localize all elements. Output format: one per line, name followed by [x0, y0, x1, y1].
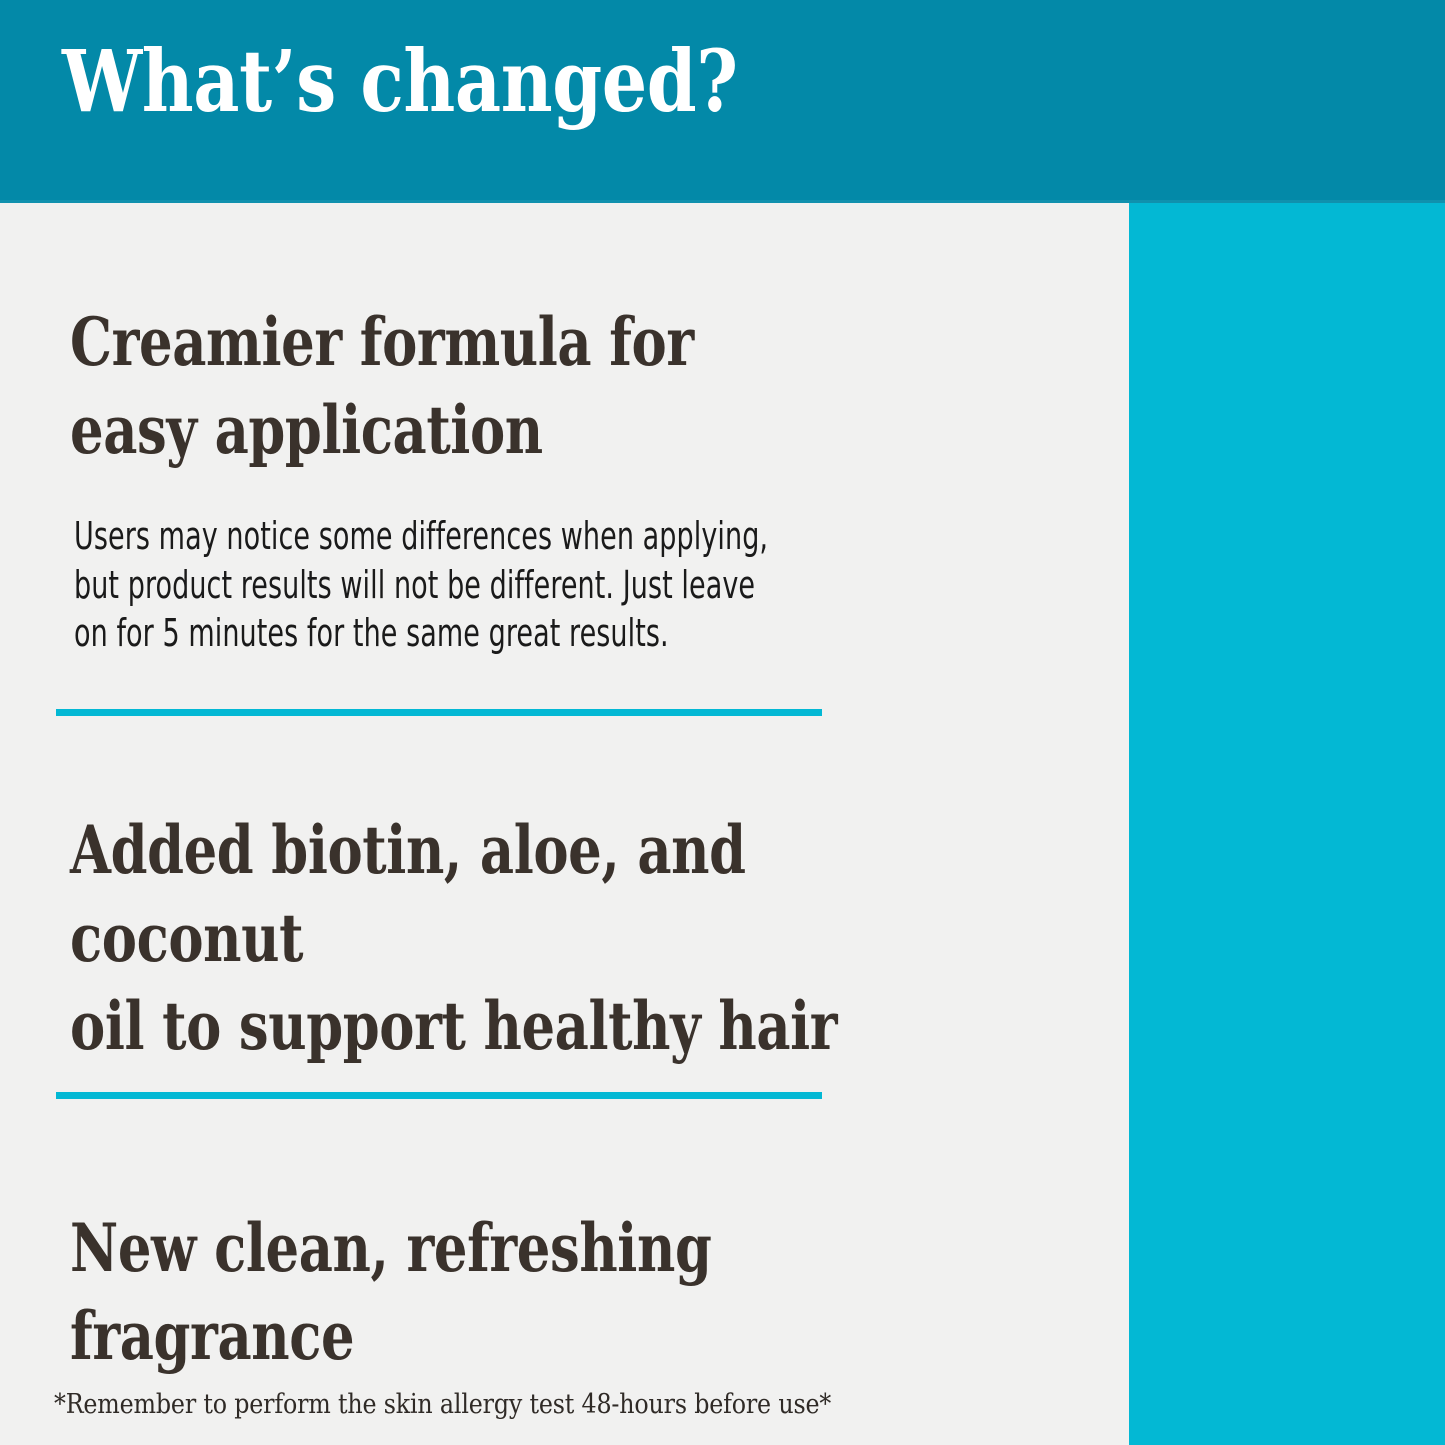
poster-canvas: What’s changed? Creamier formula for eas… — [0, 0, 1445, 1445]
section-body-creamier-formula: Users may notice some differences when a… — [74, 512, 1006, 658]
page-title: What’s changed? — [62, 38, 738, 127]
section-heading-creamier-formula: Creamier formula for easy application — [70, 299, 694, 475]
section-heading-added-biotin: Added biotin, aloe, and coconut oil to s… — [70, 807, 917, 1070]
header-band: What’s changed? — [0, 0, 1445, 203]
divider-after-section-2 — [56, 1092, 822, 1099]
content-column: Creamier formula for easy application Us… — [0, 203, 1129, 1445]
footnote-allergy-test: *Remember to perform the skin allergy te… — [54, 1389, 831, 1421]
section-heading-new-fragrance: New clean, refreshing fragrance — [70, 1205, 917, 1381]
right-accent-column — [1129, 203, 1445, 1445]
divider-after-section-1 — [56, 709, 822, 716]
